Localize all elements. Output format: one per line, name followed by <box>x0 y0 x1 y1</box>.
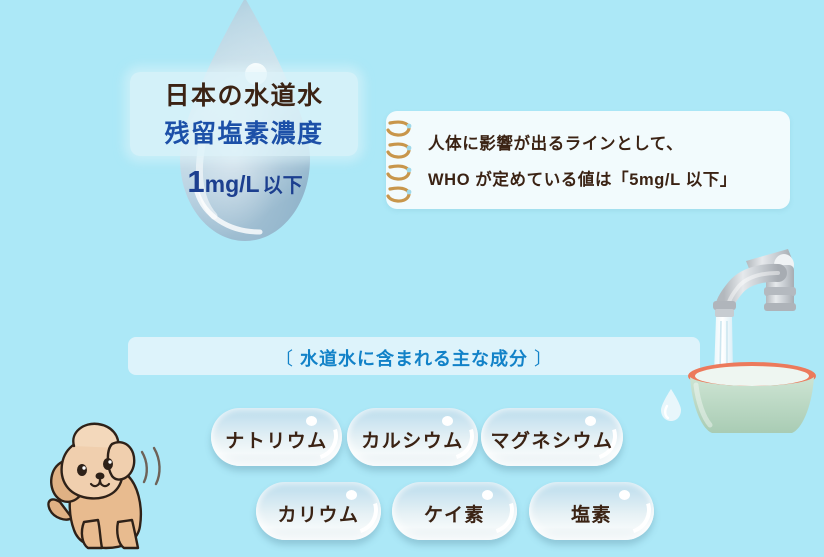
infographic-canvas: 日本の水道水 残留塩素濃度 1mg/L以下 人体に影響が出るラインとして、 WH… <box>0 0 824 557</box>
component-bubble-label: ナトリウム <box>211 426 342 453</box>
droplet-value-unit: mg/L <box>205 171 260 197</box>
banner-bracket-left: 〔 <box>275 349 294 369</box>
component-bubble-label: カリウム <box>256 500 381 527</box>
droplet-title-line1: 日本の水道水 <box>130 76 358 112</box>
spiral-binding-icon <box>378 117 426 209</box>
droplet-value-number: 1 <box>187 164 204 199</box>
banner-label: 水道水に含まれる主な成分 <box>300 349 528 369</box>
droplet-title-band: 日本の水道水 残留塩素濃度 <box>130 72 358 156</box>
note-card-line2: WHO が定めている値は「5mg/L 以下」 <box>428 166 737 190</box>
component-bubble[interactable]: ケイ素 <box>392 482 517 540</box>
note-card-line1: 人体に影響が出るラインとして、 <box>428 130 683 154</box>
component-bubble[interactable]: 塩素 <box>529 482 654 540</box>
banner-bracket-right: 〕 <box>534 349 553 369</box>
component-bubble[interactable]: カルシウム <box>347 408 478 466</box>
component-bubble[interactable]: マグネシウム <box>481 408 623 466</box>
large-water-droplet: 日本の水道水 残留塩素濃度 1mg/L以下 <box>152 0 338 248</box>
component-bubble-label: 塩素 <box>529 500 654 527</box>
section-banner: 〔 水道水に含まれる主な成分 〕 <box>128 337 700 375</box>
droplet-value: 1mg/L以下 <box>152 164 338 200</box>
component-bubble[interactable]: カリウム <box>256 482 381 540</box>
component-bubble-label: カルシウム <box>347 426 478 453</box>
section-banner-text: 〔 水道水に含まれる主な成分 〕 <box>128 345 700 371</box>
component-bubble-label: マグネシウム <box>481 426 623 453</box>
droplet-value-suffix: 以下 <box>263 175 303 197</box>
poodle-puppy-illustration <box>14 410 176 557</box>
who-note-card: 人体に影響が出るラインとして、 WHO が定めている値は「5mg/L 以下」 <box>386 111 790 209</box>
faucet-and-basin-illustration <box>688 243 824 443</box>
component-bubble[interactable]: ナトリウム <box>211 408 342 466</box>
droplet-title-line2: 残留塩素濃度 <box>130 114 358 150</box>
water-droplet-small-icon <box>658 388 684 422</box>
component-bubble-label: ケイ素 <box>392 500 517 527</box>
